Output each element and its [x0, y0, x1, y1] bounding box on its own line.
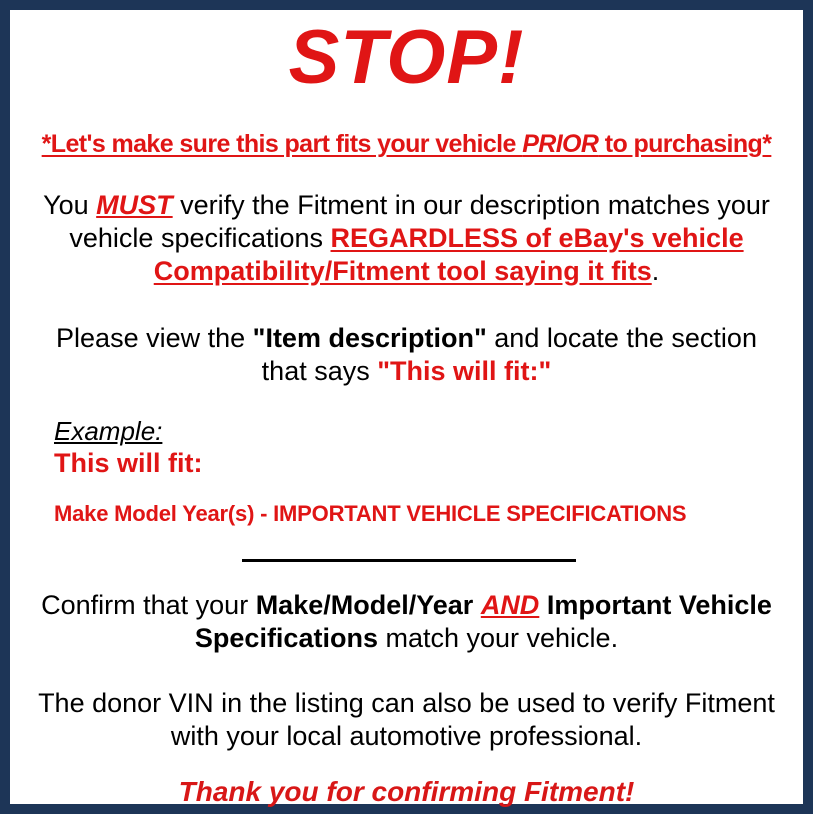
divider-wrap: [24, 549, 789, 567]
thank-you-message: Thank you for confirming Fitment!: [24, 775, 789, 809]
must-seg-1: You: [43, 190, 96, 220]
confirm-paragraph: Confirm that your Make/Model/Year AND Im…: [24, 589, 789, 655]
must-seg-3: .: [652, 256, 660, 286]
and-keyword: AND: [481, 590, 540, 620]
tagline-after: to purchasing*: [598, 130, 771, 158]
confirm-seg-1: Confirm that your: [41, 590, 256, 620]
this-will-fit-label: "This will fit:": [377, 356, 551, 386]
must-keyword: MUST: [96, 190, 173, 220]
example-label: Example:: [54, 416, 789, 446]
example-this-will-fit-heading: This will fit:: [54, 447, 789, 479]
notice-content: STOP! *Let's make sure this part fits yo…: [10, 10, 803, 804]
example-spec-line: Make Model Year(s) - IMPORTANT VEHICLE S…: [54, 501, 789, 527]
must-verify-paragraph: You MUST verify the Fitment in our descr…: [24, 189, 789, 288]
view-seg-1: Please view the: [56, 323, 253, 353]
confirm-seg-2: match your vehicle.: [378, 623, 618, 653]
tagline: *Let's make sure this part fits your veh…: [24, 130, 789, 159]
tagline-prior-emphasis: PRIOR: [522, 130, 598, 158]
fitment-notice-frame: STOP! *Let's make sure this part fits yo…: [0, 0, 813, 814]
stop-title: STOP!: [24, 20, 789, 96]
view-description-paragraph: Please view the "Item description" and l…: [24, 322, 789, 388]
donor-vin-paragraph: The donor VIN in the listing can also be…: [24, 687, 789, 753]
section-divider: [242, 559, 576, 562]
make-model-year-label: Make/Model/Year: [256, 590, 474, 620]
tagline-before: *Let's make sure this part fits your veh…: [42, 130, 523, 158]
example-block: Example: This will fit: Make Model Year(…: [24, 416, 789, 527]
item-description-label: "Item description": [253, 323, 487, 353]
